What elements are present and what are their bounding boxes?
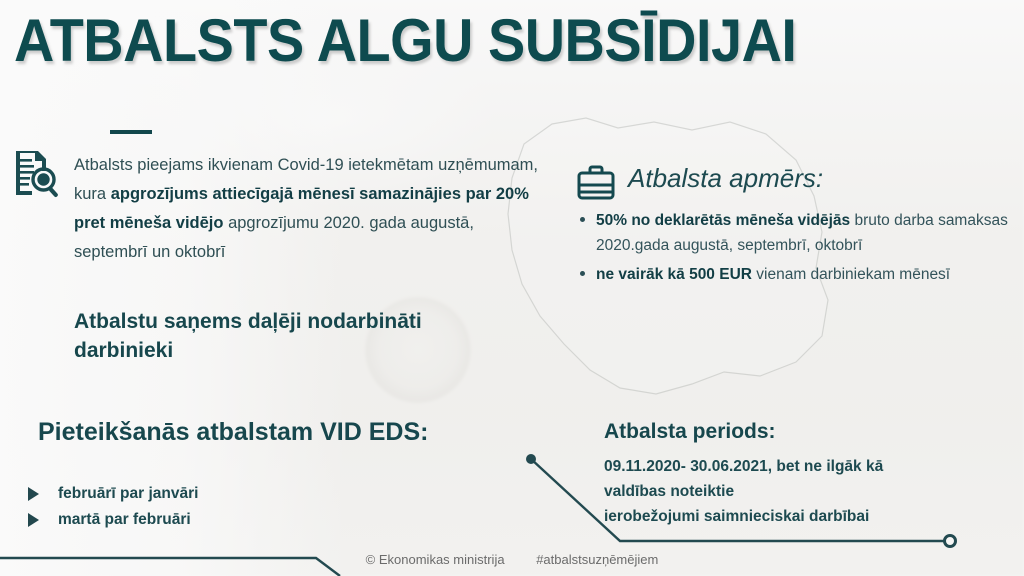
infographic-canvas: ATBALSTS ALGU SUBSĪDIJAI Atbalsts pieeja… <box>0 0 1024 576</box>
footer-copyright: © Ekonomikas ministrija <box>366 552 505 567</box>
footer: © Ekonomikas ministrija #atbalstsuzņēmēj… <box>0 552 1024 567</box>
decorative-connector-lines <box>0 0 1024 576</box>
footer-hashtag: #atbalstsuzņēmējiem <box>536 552 658 567</box>
